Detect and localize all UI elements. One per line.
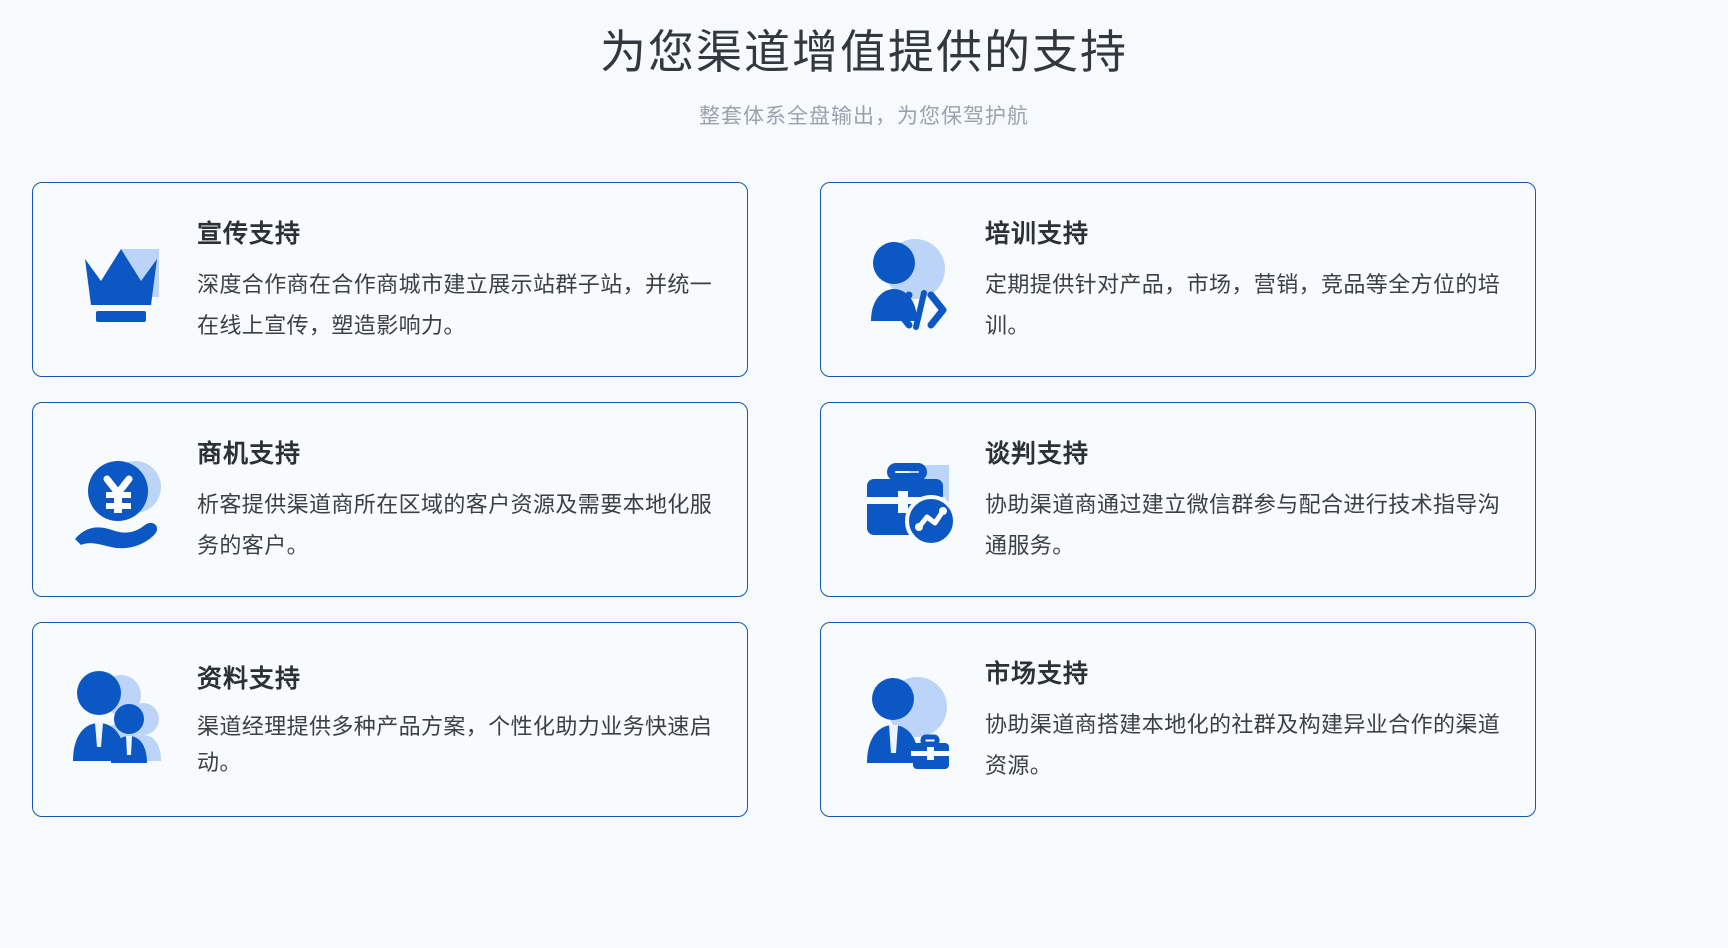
card-title: 商机支持 — [197, 438, 721, 470]
card-body: 宣传支持 深度合作商在合作商城市建立展示站群子站，并统一在线上宣传，塑造影响力。 — [197, 214, 721, 346]
page-title: 为您渠道增值提供的支持 — [0, 22, 1728, 82]
person-code-icon — [851, 221, 969, 339]
card-description: 深度合作商在合作商城市建立展示站群子站，并统一在线上宣传，塑造影响力。 — [197, 264, 721, 346]
briefcase-chart-icon — [851, 441, 969, 559]
support-card-business-opportunity[interactable]: 商机支持 析客提供渠道商所在区域的客户资源及需要本地化服务的客户。 — [32, 402, 748, 597]
card-description: 协助渠道商通过建立微信群参与配合进行技术指导沟通服务。 — [985, 484, 1509, 566]
section-header: 为您渠道增值提供的支持 整套体系全盘输出，为您保驾护航 — [0, 0, 1728, 132]
crown-icon — [63, 221, 181, 339]
support-card-publicity[interactable]: 宣传支持 深度合作商在合作商城市建立展示站群子站，并统一在线上宣传，塑造影响力。 — [32, 182, 748, 377]
card-body: 市场支持 协助渠道商搭建本地化的社群及构建异业合作的渠道资源。 — [985, 654, 1509, 786]
card-title: 宣传支持 — [197, 218, 721, 250]
card-description: 析客提供渠道商所在区域的客户资源及需要本地化服务的客户。 — [197, 484, 721, 566]
person-briefcase-icon — [851, 661, 969, 779]
card-description: 渠道经理提供多种产品方案，个性化助力业务快速启动。 — [197, 709, 721, 781]
card-title: 市场支持 — [985, 658, 1509, 690]
support-cards-grid: 宣传支持 深度合作商在合作商城市建立展示站群子站，并统一在线上宣传，塑造影响力。… — [32, 182, 1536, 817]
card-body: 商机支持 析客提供渠道商所在区域的客户资源及需要本地化服务的客户。 — [197, 434, 721, 566]
card-body: 资料支持 渠道经理提供多种产品方案，个性化助力业务快速启动。 — [197, 659, 721, 781]
card-body: 培训支持 定期提供针对产品，市场，营销，竞品等全方位的培训。 — [985, 214, 1509, 346]
page-subtitle: 整套体系全盘输出，为您保驾护航 — [0, 102, 1728, 132]
team-people-icon — [63, 661, 181, 779]
support-card-materials[interactable]: 资料支持 渠道经理提供多种产品方案，个性化助力业务快速启动。 — [32, 622, 748, 817]
support-card-training[interactable]: 培训支持 定期提供针对产品，市场，营销，竞品等全方位的培训。 — [820, 182, 1536, 377]
card-title: 资料支持 — [197, 663, 721, 695]
card-title: 谈判支持 — [985, 438, 1509, 470]
support-card-negotiation[interactable]: 谈判支持 协助渠道商通过建立微信群参与配合进行技术指导沟通服务。 — [820, 402, 1536, 597]
support-card-marketing[interactable]: 市场支持 协助渠道商搭建本地化的社群及构建异业合作的渠道资源。 — [820, 622, 1536, 817]
money-in-hand-icon — [63, 441, 181, 559]
support-section-page: 为您渠道增值提供的支持 整套体系全盘输出，为您保驾护航 宣传支持 深度合作商在合… — [0, 0, 1728, 948]
card-description: 定期提供针对产品，市场，营销，竞品等全方位的培训。 — [985, 264, 1509, 346]
card-title: 培训支持 — [985, 218, 1509, 250]
card-body: 谈判支持 协助渠道商通过建立微信群参与配合进行技术指导沟通服务。 — [985, 434, 1509, 566]
card-description: 协助渠道商搭建本地化的社群及构建异业合作的渠道资源。 — [985, 704, 1509, 786]
